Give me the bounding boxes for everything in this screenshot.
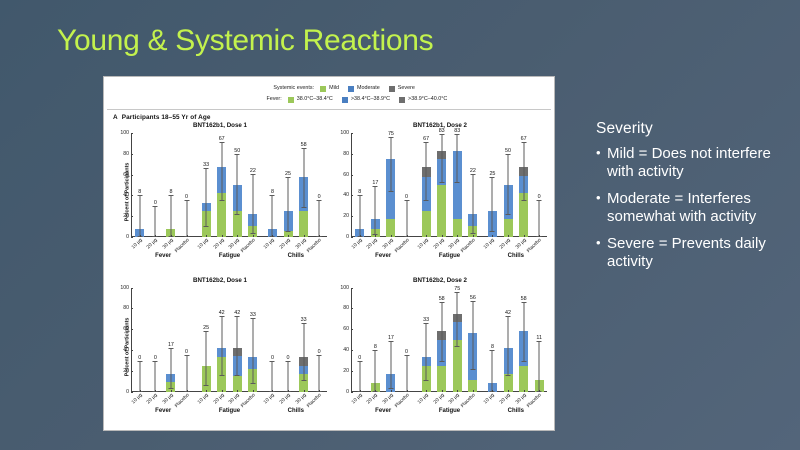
bars-container: 08170335875568425811 xyxy=(352,288,547,392)
severity-bullet-list: •Mild = Does not interfere with activity… xyxy=(596,145,792,271)
error-cap-top xyxy=(270,361,275,362)
legend-swatch-fever-low-icon xyxy=(288,97,294,103)
x-tick-mark xyxy=(155,235,156,237)
x-tick-mark xyxy=(360,235,361,237)
x-tick-mark xyxy=(442,235,443,237)
x-tick-label: 10 µg xyxy=(264,393,276,405)
bar-slot[interactable]: 8 xyxy=(267,133,278,237)
group-name-chills: Chills xyxy=(265,408,327,419)
bar-value-label: 33 xyxy=(301,317,307,323)
bar-slot[interactable]: 0 xyxy=(401,288,412,392)
error-bar xyxy=(319,201,320,237)
panel-header: AParticipants 18–55 Yr of Age xyxy=(107,110,551,121)
x-tick-mark xyxy=(237,390,238,392)
x-tick-mark xyxy=(524,390,525,392)
legend-swatch-fever-mid-icon xyxy=(342,97,348,103)
bar-group-fatigue: 33587556 xyxy=(418,288,480,392)
bar-slot[interactable]: 25 xyxy=(283,133,294,237)
error-bar xyxy=(508,155,509,215)
x-tick-slot: 10 µg xyxy=(354,392,365,406)
x-tick-slot: Placebo xyxy=(467,237,478,251)
x-tick-mark xyxy=(304,390,305,392)
x-tick-label: 30 µg xyxy=(295,238,307,250)
error-cap-bottom xyxy=(424,380,429,381)
x-tick-label: 10 µg xyxy=(351,238,363,250)
x-tick-mark xyxy=(391,235,392,237)
legend-swatch-moderate-icon xyxy=(348,86,354,92)
y-tick-0: 0 xyxy=(346,389,351,395)
bar-slot[interactable]: 8 xyxy=(370,288,381,392)
error-cap-top xyxy=(404,200,409,201)
x-tick-mark xyxy=(304,235,305,237)
x-tick-label: 30 µg xyxy=(229,393,241,405)
error-bar xyxy=(206,332,207,386)
chart-title: BNT162b1, Dose 1 xyxy=(111,122,329,131)
x-tick-group-chills: 10 µg20 µg30 µgPlacebo xyxy=(485,237,547,251)
legend-entry-moderate: Moderate xyxy=(348,86,380,92)
bar-value-label: 0 xyxy=(287,355,290,361)
bar-group-fever: 08170 xyxy=(352,288,414,392)
x-tick-mark xyxy=(253,390,254,392)
error-bar xyxy=(252,175,253,234)
x-tick-label: 10 µg xyxy=(484,238,496,250)
x-tick-slot: 20 µg xyxy=(370,237,381,251)
group-name-chills: Chills xyxy=(485,408,547,419)
bar-slot[interactable]: 0 xyxy=(150,133,161,237)
x-tick-label: 20 µg xyxy=(147,238,159,250)
bar-value-label: 8 xyxy=(169,189,172,195)
x-tick-label: 20 µg xyxy=(499,393,511,405)
x-tick-slot: 10 µg xyxy=(421,237,432,251)
x-tick-slot: 10 µg xyxy=(267,237,278,251)
bar-slot[interactable]: 0 xyxy=(181,133,192,237)
error-cap-top xyxy=(184,355,189,356)
error-cap-top xyxy=(357,361,362,362)
x-tick-label: 20 µg xyxy=(279,393,291,405)
error-cap-top xyxy=(470,174,475,175)
bar-slot[interactable]: 25 xyxy=(487,133,498,237)
bar-slot[interactable]: 22 xyxy=(467,133,478,237)
group-name-fever: Fever xyxy=(352,408,414,419)
bar-group-chills: 2550670 xyxy=(485,133,547,237)
error-bar xyxy=(472,175,473,234)
x-tick-label: 10 µg xyxy=(264,238,276,250)
error-bar xyxy=(508,317,509,376)
x-tick-slot: 20 µg xyxy=(436,237,447,251)
legend-text-mild: Mild xyxy=(329,86,339,92)
x-tick-mark xyxy=(319,235,320,237)
severity-bullet-2: •Moderate = Interferes somewhat with act… xyxy=(596,190,792,226)
x-tick-mark xyxy=(140,390,141,392)
bar-slot[interactable]: 33 xyxy=(201,133,212,237)
bar-value-label: 17 xyxy=(168,342,174,348)
y-tick-80: 80 xyxy=(343,305,351,311)
error-cap-top xyxy=(235,154,240,155)
error-bar xyxy=(252,319,253,385)
error-cap-top xyxy=(439,134,444,135)
error-cap-bottom xyxy=(204,385,209,386)
error-cap-top xyxy=(270,195,275,196)
group-names: FeverFatigueChills xyxy=(132,408,327,419)
error-cap-top xyxy=(424,323,429,324)
group-name-chills: Chills xyxy=(485,253,547,264)
bar-slot[interactable]: 17 xyxy=(385,288,396,392)
x-tick-mark xyxy=(272,390,273,392)
error-cap-bottom xyxy=(250,233,255,234)
error-cap-top xyxy=(373,186,378,187)
error-bar xyxy=(441,135,442,183)
x-tick-slot: 10 µg xyxy=(201,392,212,406)
bar-slot[interactable]: 8 xyxy=(165,133,176,237)
plot-area: Percent of Participants10080604020080803… xyxy=(111,133,329,251)
chart-3: BNT162b2, Dose 1Percent of Participants1… xyxy=(109,277,329,432)
bullet-dot-icon: • xyxy=(596,235,607,271)
error-cap-bottom xyxy=(250,383,255,384)
bar-segment-mild xyxy=(453,340,462,392)
x-tick-slot: Placebo xyxy=(314,237,325,251)
bar-slot[interactable]: 42 xyxy=(216,288,227,392)
error-cap-top xyxy=(250,174,255,175)
error-bar xyxy=(303,324,304,381)
legend-row-systemic-events: Systemic events: Mild Moderate Severe xyxy=(107,83,551,94)
bar-slot[interactable]: 17 xyxy=(165,288,176,392)
error-cap-top xyxy=(286,361,291,362)
bar-value-label: 0 xyxy=(538,194,541,200)
x-tick-slot: 20 µg xyxy=(283,237,294,251)
error-bar xyxy=(523,143,524,200)
bar-value-label: 75 xyxy=(388,131,394,137)
severity-bullet-text: Moderate = Interferes somewhat with acti… xyxy=(607,190,792,226)
bar-slot[interactable]: 8 xyxy=(134,133,145,237)
page-title: Young & Systemic Reactions xyxy=(57,24,433,58)
bar-slot[interactable]: 17 xyxy=(370,133,381,237)
y-tick-100: 100 xyxy=(340,285,351,291)
bar-value-label: 50 xyxy=(234,148,240,154)
bar-slot[interactable]: 50 xyxy=(232,133,243,237)
bar-value-label: 67 xyxy=(219,136,225,142)
bar-slot[interactable]: 33 xyxy=(421,288,432,392)
x-tick-mark xyxy=(473,390,474,392)
x-tick-slot: 20 µg xyxy=(150,237,161,251)
bar-slot[interactable]: 56 xyxy=(467,288,478,392)
x-tick-label: 30 µg xyxy=(162,238,174,250)
x-tick-mark xyxy=(360,390,361,392)
bar-slot[interactable]: 58 xyxy=(436,288,447,392)
x-tick-labels: 10 µg20 µg30 µgPlacebo10 µg20 µg30 µgPla… xyxy=(132,237,327,251)
error-cap-top xyxy=(490,177,495,178)
bar-slot[interactable]: 33 xyxy=(247,288,258,392)
y-tick-100: 100 xyxy=(120,285,131,291)
bar-value-label: 0 xyxy=(185,349,188,355)
error-cap-top xyxy=(219,142,224,143)
bar-slot[interactable]: 0 xyxy=(267,288,278,392)
x-tick-mark xyxy=(171,390,172,392)
error-bar xyxy=(390,138,391,192)
error-bar xyxy=(492,178,493,232)
bar-group-chills: 00330 xyxy=(265,288,327,392)
error-bar xyxy=(359,196,360,237)
x-tick-label: 20 µg xyxy=(213,238,225,250)
bar-slot[interactable]: 58 xyxy=(298,133,309,237)
y-tick-60: 60 xyxy=(123,172,131,178)
chart-4: BNT162b2, Dose 2100806040200081703358755… xyxy=(329,277,549,432)
error-cap-top xyxy=(537,341,542,342)
bar-slot[interactable]: 0 xyxy=(283,288,294,392)
x-tick-slot: 20 µg xyxy=(150,392,161,406)
bar-slot[interactable]: 25 xyxy=(201,288,212,392)
bar-value-label: 58 xyxy=(521,296,527,302)
bar-segment-mild xyxy=(437,185,446,237)
x-tick-mark xyxy=(206,235,207,237)
x-tick-slot: 10 µg xyxy=(487,392,498,406)
error-cap-bottom xyxy=(439,361,444,362)
error-cap-bottom xyxy=(470,369,475,370)
y-tick-80: 80 xyxy=(343,151,351,157)
x-tick-slot: Placebo xyxy=(401,237,412,251)
error-bar xyxy=(139,362,140,391)
bar-slot[interactable]: 8 xyxy=(354,133,365,237)
x-tick-mark xyxy=(492,390,493,392)
bar-segment-mild xyxy=(519,366,528,392)
legend-swatch-mild-icon xyxy=(320,86,326,92)
bar-value-label: 50 xyxy=(505,148,511,154)
error-bar xyxy=(155,207,156,237)
y-tick-40: 40 xyxy=(123,347,131,353)
error-cap-bottom xyxy=(219,375,224,376)
error-bar xyxy=(170,349,171,390)
bar-segment-mild xyxy=(299,211,308,237)
x-tick-mark xyxy=(508,235,509,237)
legend-label-systemic-events: Systemic events: xyxy=(234,86,320,92)
x-tick-group-fatigue: 10 µg20 µg30 µgPlacebo xyxy=(198,237,260,251)
severity-bullet-1: •Mild = Does not interfere with activity xyxy=(596,145,792,181)
x-tick-label: 10 µg xyxy=(484,393,496,405)
bar-group-fatigue: 33675022 xyxy=(198,133,260,237)
bar-value-label: 67 xyxy=(521,136,527,142)
bar-slot[interactable]: 67 xyxy=(216,133,227,237)
bar-value-label: 25 xyxy=(285,171,291,177)
chart-title: BNT162b2, Dose 2 xyxy=(331,277,549,286)
x-tick-mark xyxy=(222,390,223,392)
bar-slot[interactable]: 75 xyxy=(452,288,463,392)
plot-area: Percent of Participants10080604020000170… xyxy=(111,288,329,406)
x-tick-mark xyxy=(375,390,376,392)
bar-slot[interactable]: 0 xyxy=(134,288,145,392)
bar-value-label: 0 xyxy=(154,200,157,206)
x-tick-slot: 10 µg xyxy=(201,237,212,251)
bar-slot[interactable]: 0 xyxy=(354,288,365,392)
x-tick-mark xyxy=(288,390,289,392)
x-tick-label: 30 µg xyxy=(515,238,527,250)
bar-value-label: 42 xyxy=(219,310,225,316)
x-tick-slot: Placebo xyxy=(467,392,478,406)
error-bar xyxy=(406,356,407,391)
bar-value-label: 22 xyxy=(470,168,476,174)
bars-container: 001702542423300330 xyxy=(132,288,327,392)
error-cap-bottom xyxy=(521,200,526,201)
x-tick-label: 30 µg xyxy=(295,393,307,405)
error-bar xyxy=(390,342,391,390)
x-tick-label: 20 µg xyxy=(433,238,445,250)
x-tick-group-fever: 10 µg20 µg30 µgPlacebo xyxy=(352,237,414,251)
bar-group-fatigue: 67838322 xyxy=(418,133,480,237)
error-cap-top xyxy=(235,316,240,317)
error-cap-bottom xyxy=(286,231,291,232)
severity-bullet-text: Mild = Does not interfere with activity xyxy=(607,145,792,181)
x-tick-mark xyxy=(508,390,509,392)
error-cap-top xyxy=(388,341,393,342)
bar-slot[interactable]: 0 xyxy=(314,288,325,392)
error-cap-bottom xyxy=(204,226,209,227)
x-tick-label: 20 µg xyxy=(367,393,379,405)
bar-slot[interactable]: 0 xyxy=(150,288,161,392)
x-tick-slot: 10 µg xyxy=(134,392,145,406)
error-bar xyxy=(406,201,407,237)
x-tick-slot: 20 µg xyxy=(503,392,514,406)
bar-slot[interactable]: 67 xyxy=(518,133,529,237)
plot-area: 10080604020081775067838322255067010 µg20… xyxy=(331,133,549,251)
legend-entry-fever-high: >38.9°C–40.0°C xyxy=(399,97,447,103)
bar-value-label: 67 xyxy=(423,136,429,142)
y-tick-60: 60 xyxy=(343,172,351,178)
bar-value-label: 0 xyxy=(405,194,408,200)
error-cap-bottom xyxy=(235,214,240,215)
bar-slot[interactable]: 67 xyxy=(421,133,432,237)
bar-value-label: 0 xyxy=(138,355,141,361)
error-cap-top xyxy=(153,361,158,362)
bar-segment-mild xyxy=(422,211,431,237)
x-tick-label: 20 µg xyxy=(367,238,379,250)
x-tick-group-fatigue: 10 µg20 µg30 µgPlacebo xyxy=(198,392,260,406)
error-cap-top xyxy=(204,168,209,169)
y-tick-80: 80 xyxy=(123,305,131,311)
error-cap-top xyxy=(424,142,429,143)
legend-entry-mild: Mild xyxy=(320,86,339,92)
x-tick-slot: 20 µg xyxy=(283,392,294,406)
severity-bullet-3: •Severe = Prevents daily activity xyxy=(596,235,792,271)
error-cap-bottom xyxy=(490,231,495,232)
x-tick-group-chills: 10 µg20 µg30 µgPlacebo xyxy=(265,392,327,406)
error-bar xyxy=(186,356,187,391)
bar-value-label: 0 xyxy=(318,349,321,355)
x-tick-label: 30 µg xyxy=(229,238,241,250)
x-tick-mark xyxy=(171,235,172,237)
x-tick-slot: 10 µg xyxy=(354,237,365,251)
y-tick-40: 40 xyxy=(343,347,351,353)
bar-slot[interactable]: 42 xyxy=(503,288,514,392)
figure-panel: Systemic events: Mild Moderate Severe Fe… xyxy=(103,76,555,431)
error-cap-top xyxy=(506,154,511,155)
bar-value-label: 0 xyxy=(271,355,274,361)
error-bar xyxy=(441,303,442,362)
bar-value-label: 33 xyxy=(423,317,429,323)
bar-value-label: 8 xyxy=(374,344,377,350)
bar-slot[interactable]: 33 xyxy=(298,288,309,392)
error-bar xyxy=(303,149,304,208)
error-bar xyxy=(237,155,238,215)
error-bar xyxy=(359,362,360,391)
x-tick-group-chills: 10 µg20 µg30 µgPlacebo xyxy=(485,392,547,406)
x-tick-mark xyxy=(407,390,408,392)
bar-slot[interactable]: 22 xyxy=(247,133,258,237)
bar-slot[interactable]: 0 xyxy=(314,133,325,237)
severity-bullet-text: Severe = Prevents daily activity xyxy=(607,235,792,271)
error-bar xyxy=(221,143,222,200)
bar-slot[interactable]: 11 xyxy=(534,288,545,392)
x-tick-mark xyxy=(140,235,141,237)
x-tick-slot: Placebo xyxy=(247,392,258,406)
error-cap-top xyxy=(455,134,460,135)
error-cap-bottom xyxy=(506,375,511,376)
y-tick-60: 60 xyxy=(123,326,131,332)
x-tick-labels: 10 µg20 µg30 µgPlacebo10 µg20 µg30 µgPla… xyxy=(352,237,547,251)
bar-slot[interactable]: 0 xyxy=(401,133,412,237)
legend-entry-fever-mid: >38.4°C–38.9°C xyxy=(342,97,390,103)
x-tick-label: 30 µg xyxy=(449,393,461,405)
bar-slot[interactable]: 50 xyxy=(503,133,514,237)
bar-slot[interactable]: 42 xyxy=(232,288,243,392)
y-tick-40: 40 xyxy=(123,192,131,198)
error-cap-top xyxy=(521,142,526,143)
x-tick-label: 10 µg xyxy=(131,238,143,250)
x-tick-mark xyxy=(288,235,289,237)
bar-slot[interactable]: 0 xyxy=(181,288,192,392)
bar-slot[interactable]: 83 xyxy=(452,133,463,237)
bar-value-label: 8 xyxy=(358,189,361,195)
x-tick-slot: 20 µg xyxy=(216,237,227,251)
bar-value-label: 22 xyxy=(250,168,256,174)
x-tick-mark xyxy=(539,390,540,392)
bar-slot[interactable]: 75 xyxy=(385,133,396,237)
x-tick-label: 10 µg xyxy=(197,238,209,250)
legend-label-fever: Fever: xyxy=(202,97,288,103)
bar-value-label: 42 xyxy=(234,310,240,316)
bar-value-label: 25 xyxy=(203,325,209,331)
x-tick-mark xyxy=(319,390,320,392)
x-tick-mark xyxy=(155,390,156,392)
error-cap-top xyxy=(219,316,224,317)
x-tick-slot: 20 µg xyxy=(436,392,447,406)
chart-1: BNT162b1, Dose 1Percent of Participants1… xyxy=(109,122,329,277)
legend-text-fever-high: >38.9°C–40.0°C xyxy=(408,97,447,103)
x-tick-slot: Placebo xyxy=(314,392,325,406)
group-names: FeverFatigueChills xyxy=(132,253,327,264)
error-cap-bottom xyxy=(219,200,224,201)
error-cap-top xyxy=(404,355,409,356)
group-name-fever: Fever xyxy=(352,253,414,264)
error-cap-bottom xyxy=(301,380,306,381)
bar-slot[interactable]: 58 xyxy=(518,288,529,392)
chart-title: BNT162b2, Dose 1 xyxy=(111,277,329,286)
error-bar xyxy=(139,196,140,237)
panel-header-text: Participants 18–55 Yr of Age xyxy=(122,114,211,121)
bar-value-label: 0 xyxy=(154,355,157,361)
bars-container: 808033675022825580 xyxy=(132,133,327,237)
bar-value-label: 8 xyxy=(271,189,274,195)
bar-slot[interactable]: 8 xyxy=(487,288,498,392)
x-tick-label: 20 µg xyxy=(147,393,159,405)
bar-slot[interactable]: 0 xyxy=(534,133,545,237)
x-tick-labels: 10 µg20 µg30 µgPlacebo10 µg20 µg30 µgPla… xyxy=(132,392,327,406)
x-tick-group-fatigue: 10 µg20 µg30 µgPlacebo xyxy=(418,392,480,406)
plot-area: 1008060402000817033587556842581110 µg20 … xyxy=(331,288,549,406)
x-tick-label: 30 µg xyxy=(382,393,394,405)
legend-text-fever-low: 38.0°C–38.4°C xyxy=(297,97,333,103)
error-cap-top xyxy=(439,302,444,303)
error-cap-top xyxy=(317,355,322,356)
x-tick-slot: 20 µg xyxy=(216,392,227,406)
bar-slot[interactable]: 83 xyxy=(436,133,447,237)
